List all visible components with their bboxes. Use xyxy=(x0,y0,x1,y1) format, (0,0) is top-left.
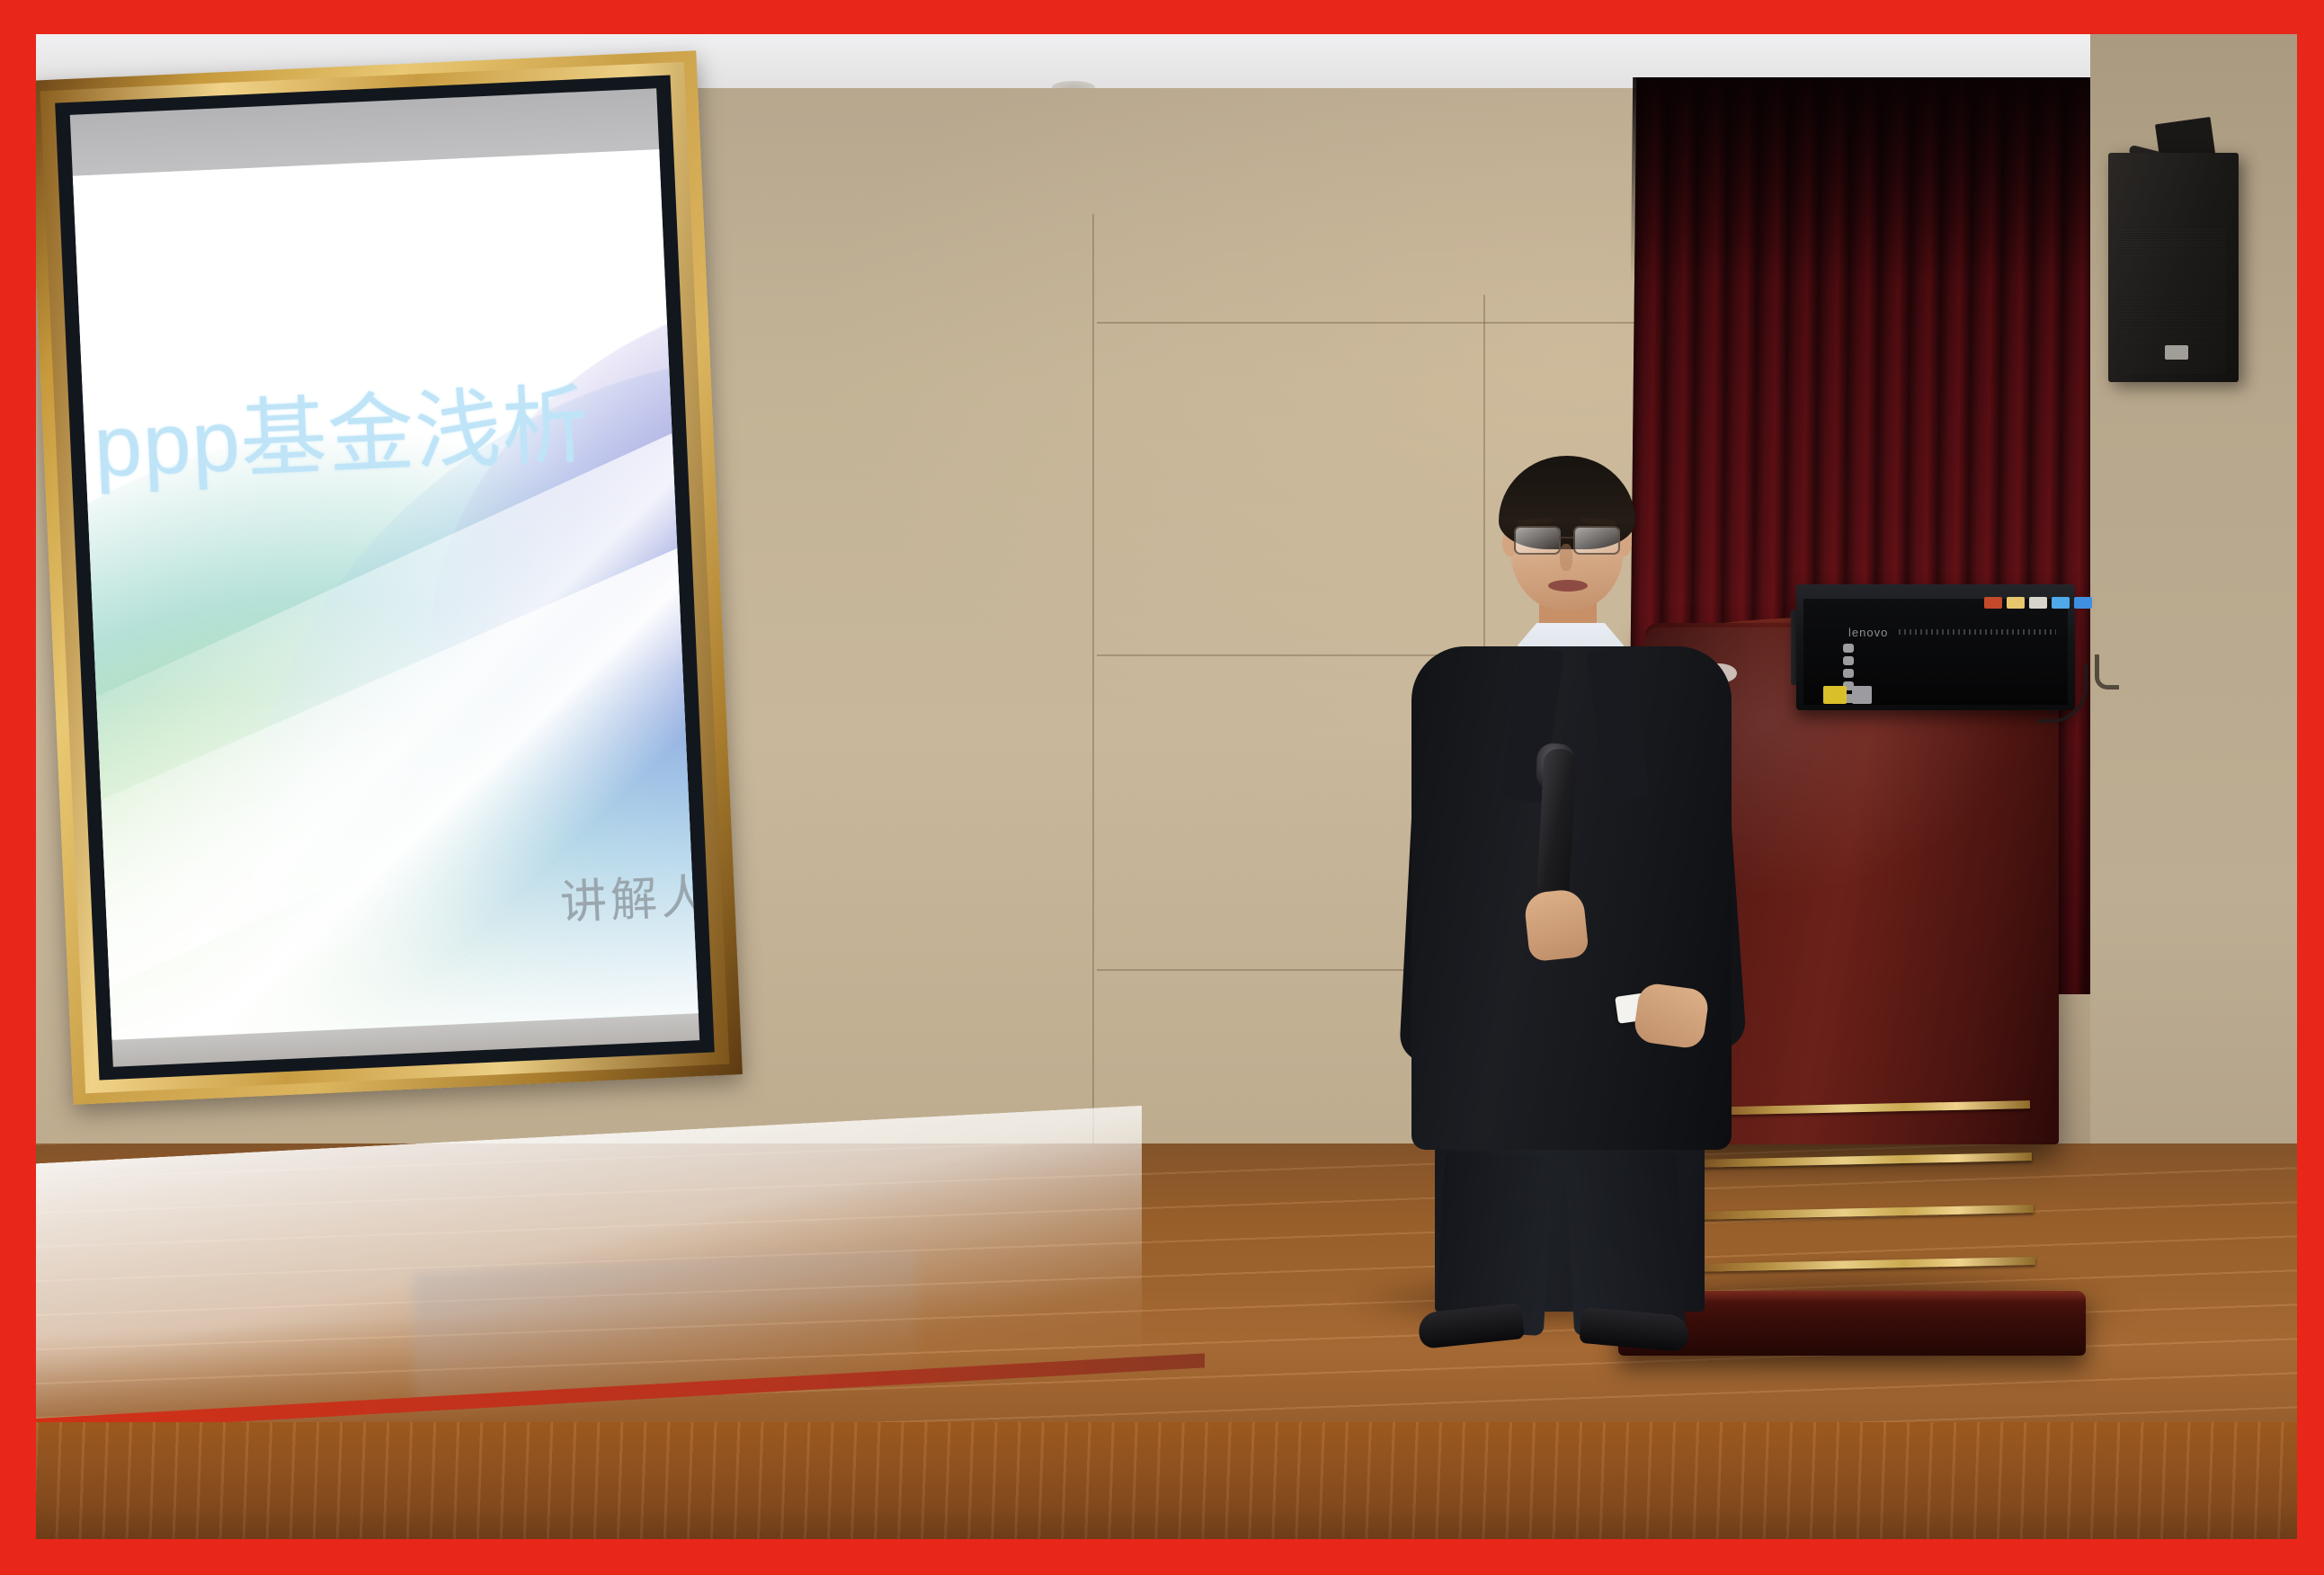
stage-curtain-shadow xyxy=(1631,77,2100,284)
photo-frame: ppp基金浅析 讲解人：周扬 lenovo xyxy=(0,0,2324,1575)
presenter-nose xyxy=(1560,544,1572,571)
presenter-hand-holding-mic xyxy=(1523,888,1589,962)
slide-presenter-label: 讲解人：周扬 xyxy=(558,851,699,932)
monitor-brand-label: lenovo xyxy=(1848,626,1888,639)
presenter-right-hand xyxy=(1633,982,1710,1050)
screen-surface: ppp基金浅析 讲解人：周扬 xyxy=(73,149,699,1040)
slide-bottom-fade xyxy=(96,672,699,1040)
stage-front-grain xyxy=(36,1422,2297,1539)
monitor-tab-chip[interactable] xyxy=(2007,597,2025,609)
monitor-tab-chip[interactable] xyxy=(2074,597,2092,609)
slide-canvas: ppp基金浅析 讲解人：周扬 xyxy=(73,149,699,1040)
yellow-sticker xyxy=(1823,686,1847,704)
monitor-list-icon[interactable] xyxy=(1843,644,1854,653)
monitor-tab-chips[interactable] xyxy=(1984,597,2092,609)
monitor-text-row xyxy=(1899,629,2056,635)
monitor-tab-chip[interactable] xyxy=(2029,597,2047,609)
wall-panel-seam xyxy=(1097,322,1654,324)
grey-sticker xyxy=(1852,686,1872,704)
photograph: ppp基金浅析 讲解人：周扬 lenovo xyxy=(36,34,2297,1539)
presenter-mouth xyxy=(1548,580,1588,592)
monitor-tab-chip[interactable] xyxy=(2052,597,2070,609)
monitor-list-icon[interactable] xyxy=(1843,656,1854,665)
presenter-left-shoe xyxy=(1417,1303,1525,1349)
presenter xyxy=(1376,443,1762,1351)
wall-hook-icon xyxy=(2095,654,2119,690)
projection-screen: ppp基金浅析 讲解人：周扬 xyxy=(36,50,743,1105)
glasses-right-lens xyxy=(1573,526,1620,555)
presenter-right-leg xyxy=(1565,1151,1686,1336)
monitor-list-icon[interactable] xyxy=(1843,669,1854,678)
slide-title: ppp基金浅析 xyxy=(92,382,591,491)
monitor-tab-chip[interactable] xyxy=(1984,597,2002,609)
speaker-badge xyxy=(2165,345,2188,360)
glasses-left-lens xyxy=(1514,526,1561,555)
